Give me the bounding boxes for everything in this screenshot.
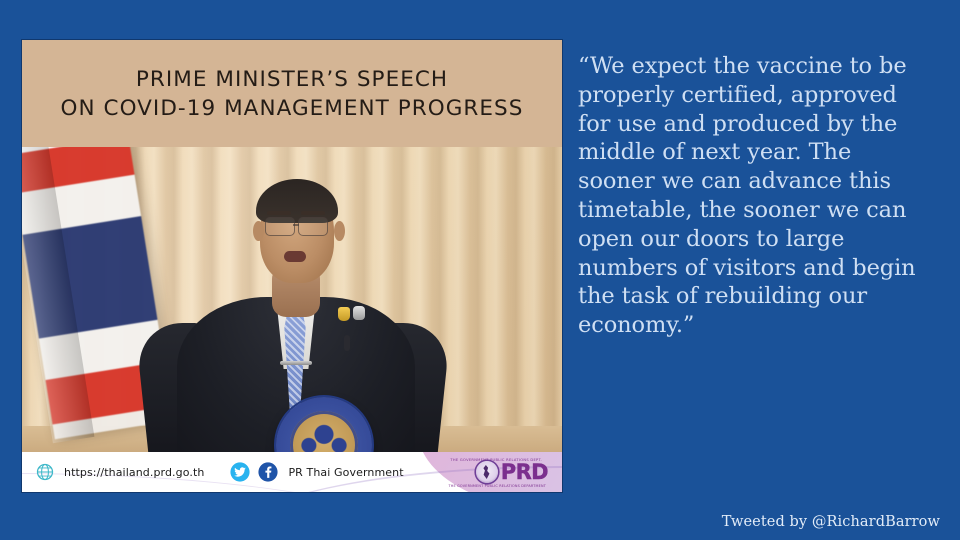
speech-graphic-card: PRIME MINISTER’S SPEECH ON COVID-19 MANA… xyxy=(22,40,562,492)
silver-lapel-pin xyxy=(353,306,365,320)
card-title-line-1: PRIME MINISTER’S SPEECH xyxy=(136,67,448,92)
website-url-label[interactable]: https://thailand.prd.go.th xyxy=(64,466,204,479)
prime-minister-figure xyxy=(22,147,562,452)
prd-seal-icon xyxy=(476,461,498,483)
lapel-microphone xyxy=(344,335,350,351)
slide-canvas: PRIME MINISTER’S SPEECH ON COVID-19 MANA… xyxy=(0,0,960,540)
quote-line: middle of next year. The xyxy=(578,138,946,167)
seal-figures xyxy=(297,419,351,452)
eyebrow-right xyxy=(301,211,325,215)
quote-line: timetable, the sooner we can xyxy=(578,196,946,225)
quote-line: “We expect the vaccine to be xyxy=(578,52,946,81)
card-title-line-2: ON COVID-19 MANAGEMENT PROGRESS xyxy=(61,96,524,121)
quote-line: for use and produced by the xyxy=(578,110,946,139)
eyebrow-left xyxy=(267,211,291,215)
social-account-label[interactable]: PR Thai Government xyxy=(288,466,403,479)
quote-line: open our doors to large xyxy=(578,225,946,254)
facebook-icon[interactable] xyxy=(258,462,278,482)
ear-right xyxy=(334,221,345,241)
attribution-credit: Tweeted by @RichardBarrow xyxy=(722,514,940,530)
mouth xyxy=(284,251,306,262)
card-footer-bar: https://thailand.prd.go.th PR Thai Gover… xyxy=(22,452,562,492)
quote-line: the task of rebuilding our xyxy=(578,282,946,311)
prime-minister-photo xyxy=(22,147,562,452)
prd-logo: THE GOVERNMENT PUBLIC RELATIONS DEPT. PR… xyxy=(476,461,548,483)
quote-text-block: “We expect the vaccine to be properly ce… xyxy=(578,52,946,340)
prd-logo-top-text: THE GOVERNMENT PUBLIC RELATIONS DEPT. xyxy=(450,458,542,462)
gold-lapel-pin xyxy=(338,307,350,321)
quote-line: numbers of visitors and begin xyxy=(578,254,946,283)
twitter-icon[interactable] xyxy=(230,462,250,482)
prd-logo-wordmark: PRD xyxy=(501,462,548,483)
eyeglasses-lens-left xyxy=(265,217,295,236)
eyeglasses-bridge xyxy=(293,224,299,226)
globe-icon xyxy=(36,463,54,481)
quote-line: sooner we can advance this xyxy=(578,167,946,196)
quote-line: properly certified, approved xyxy=(578,81,946,110)
prd-logo-sub-text: THE GOVERNMENT PUBLIC RELATIONS DEPARTME… xyxy=(448,484,546,488)
ear-left xyxy=(253,221,264,241)
tie-bar xyxy=(280,361,312,365)
eyeglasses-lens-right xyxy=(298,217,328,236)
card-title-block: PRIME MINISTER’S SPEECH ON COVID-19 MANA… xyxy=(22,40,562,147)
quote-line: economy.” xyxy=(578,311,946,340)
